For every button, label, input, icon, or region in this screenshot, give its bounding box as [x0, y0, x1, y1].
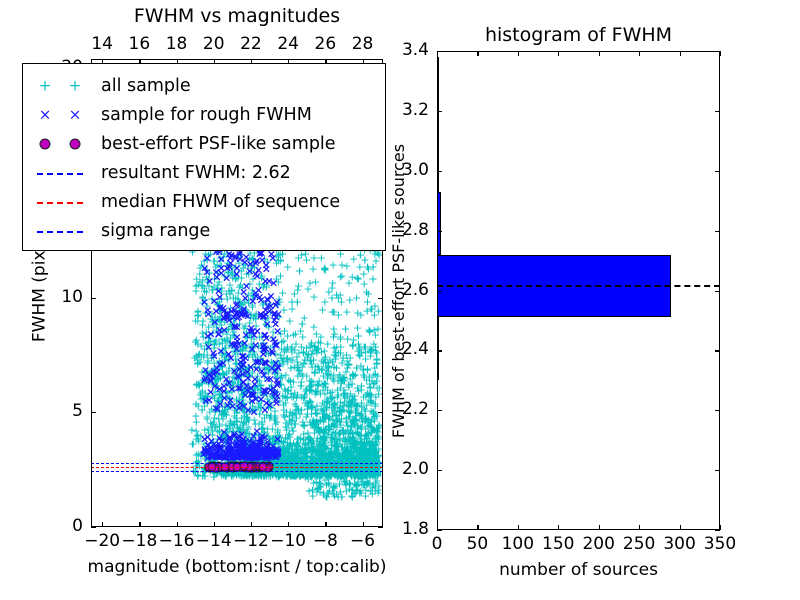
scatter-x-tick: [139, 522, 140, 527]
histogram-y-tick: [437, 51, 442, 52]
legend-item[interactable]: resultant FWHM: 2.62: [23, 159, 387, 187]
dashed-line-icon: [37, 173, 83, 175]
scatter-y-tick: [378, 298, 383, 299]
histogram-x-tick-label: 100: [502, 536, 534, 553]
histogram-y-tick: [715, 111, 720, 112]
legend-item[interactable]: best-effort PSF-like sample: [23, 130, 387, 158]
scatter-x-tick-label: −10: [270, 533, 306, 550]
histogram-y-tick: [715, 410, 720, 411]
histogram-x-tick-label: 0: [432, 536, 443, 553]
scatter-x-tick-label: −20: [84, 533, 120, 550]
scatter-y-tick: [91, 527, 96, 528]
scatter-x-tick-label: −8: [313, 533, 338, 550]
legend-item-label: all sample: [101, 76, 191, 96]
histogram-y-tick: [437, 291, 442, 292]
histogram-x-tick: [477, 51, 478, 56]
scatter-x-tick: [363, 522, 364, 527]
scatter-ylabel: FWHM (pix): [32, 244, 49, 342]
scatter-y-tick-label: 0: [72, 518, 83, 535]
histogram-y-tick: [715, 530, 720, 531]
histogram-y-tick: [437, 231, 442, 232]
scatter-x-tick-label: −6: [350, 533, 375, 550]
histogram-x-tick: [720, 51, 721, 56]
histogram-x-tick: [477, 525, 478, 530]
legend-item[interactable]: ××sample for rough FWHM: [23, 101, 387, 129]
scatter-x-tick-label: −16: [159, 533, 195, 550]
cross-icon: ×: [69, 108, 82, 123]
legend-item[interactable]: median FHWM of sequence: [23, 188, 387, 216]
histogram-xlabel: number of sources: [499, 562, 658, 579]
histogram-x-tick: [720, 525, 721, 530]
histogram-x-tick: [680, 51, 681, 56]
dashed-line-icon: [37, 202, 83, 204]
scatter-x-top-tick-label: 22: [240, 36, 262, 53]
histogram-y-tick: [437, 111, 442, 112]
histogram-y-tick: [437, 530, 442, 531]
histogram-x-tick: [639, 51, 640, 56]
figure-canvas: ++++++++++++++++++++++++++++++++++++++++…: [0, 0, 800, 600]
scatter-x-tick: [102, 522, 103, 527]
scatter-x-top-tick-label: 24: [277, 36, 299, 53]
histogram-y-tick-label: 3.4: [402, 42, 429, 59]
scatter-x-tick-label: −18: [121, 533, 157, 550]
scatter-x-tick: [288, 522, 289, 527]
scatter-x-tick: [214, 522, 215, 527]
histogram-x-tick: [518, 51, 519, 56]
histogram-y-tick: [437, 410, 442, 411]
histogram-title: histogram of FWHM: [485, 26, 672, 45]
scatter-y-tick: [378, 527, 383, 528]
scatter-x-top-tick-label: 16: [129, 36, 151, 53]
histogram-y-tick-label: 1.8: [402, 521, 429, 538]
histogram-x-tick: [518, 525, 519, 530]
legend-item-label: best-effort PSF-like sample: [101, 134, 336, 154]
histogram-y-tick: [437, 470, 442, 471]
scatter-title: FWHM vs magnitudes: [134, 7, 340, 26]
cross-icon: ×: [39, 108, 52, 123]
scatter-y-tick: [91, 298, 96, 299]
scatter-y-tick-label: 10: [61, 289, 83, 306]
legend-box: ++all sample××sample for rough FWHMbest-…: [22, 63, 386, 251]
scatter-x-top-tick-label: 26: [315, 36, 337, 53]
scatter-x-top-tick-label: 14: [91, 36, 113, 53]
scatter-x-tick: [251, 522, 252, 527]
histogram-x-tick: [599, 525, 600, 530]
histogram-x-tick-label: 200: [582, 536, 614, 553]
circle-icon: [40, 139, 51, 150]
scatter-x-tick-label: −12: [233, 533, 269, 550]
histogram-y-tick-label: 3.2: [402, 102, 429, 119]
histogram-y-tick-label: 2.0: [402, 461, 429, 478]
histogram-y-tick: [715, 171, 720, 172]
histogram-x-tick: [558, 51, 559, 56]
scatter-x-tick: [325, 522, 326, 527]
legend-item-label: sample for rough FWHM: [101, 105, 312, 125]
histogram-ylabel: FWHM of best-effort PSF-like sources: [391, 143, 407, 437]
legend-item[interactable]: sigma range: [23, 217, 387, 245]
scatter-x-tick: [177, 522, 178, 527]
histogram-x-tick: [680, 525, 681, 530]
histogram-y-tick: [715, 51, 720, 52]
histogram-y-tick: [715, 291, 720, 292]
scatter-y-tick: [378, 412, 383, 413]
plus-icon: +: [69, 79, 82, 94]
scatter-x-top-tick-label: 20: [203, 36, 225, 53]
legend-item[interactable]: ++all sample: [23, 72, 387, 100]
legend-item-label: sigma range: [101, 221, 210, 241]
histogram-x-tick: [558, 525, 559, 530]
histogram-x-tick-label: 350: [704, 536, 736, 553]
scatter-xlabel: magnitude (bottom:isnt / top:calib): [88, 559, 387, 576]
plus-icon: +: [39, 79, 52, 94]
legend-item-label: median FHWM of sequence: [101, 192, 340, 212]
histogram-y-tick: [437, 171, 442, 172]
histogram-x-tick-label: 300: [663, 536, 695, 553]
histogram-y-tick: [715, 231, 720, 232]
scatter-x-top-tick-label: 18: [166, 36, 188, 53]
circle-icon: [70, 139, 81, 150]
histogram-x-tick: [599, 51, 600, 56]
scatter-y-tick: [91, 412, 96, 413]
legend-item-label: resultant FWHM: 2.62: [101, 163, 291, 183]
histogram-y-tick: [437, 350, 442, 351]
scatter-x-top-tick-label: 28: [352, 36, 374, 53]
histogram-x-tick-label: 150: [542, 536, 574, 553]
histogram-y-tick: [715, 470, 720, 471]
histogram-y-tick: [715, 350, 720, 351]
histogram-x-tick: [639, 525, 640, 530]
dash-dot-line-icon: [37, 231, 83, 233]
histogram-axes-frame: [437, 51, 720, 530]
histogram-x-tick-label: 50: [467, 536, 489, 553]
histogram-x-tick-label: 250: [623, 536, 655, 553]
scatter-x-tick-label: −14: [196, 533, 232, 550]
scatter-y-tick-label: 5: [72, 403, 83, 420]
